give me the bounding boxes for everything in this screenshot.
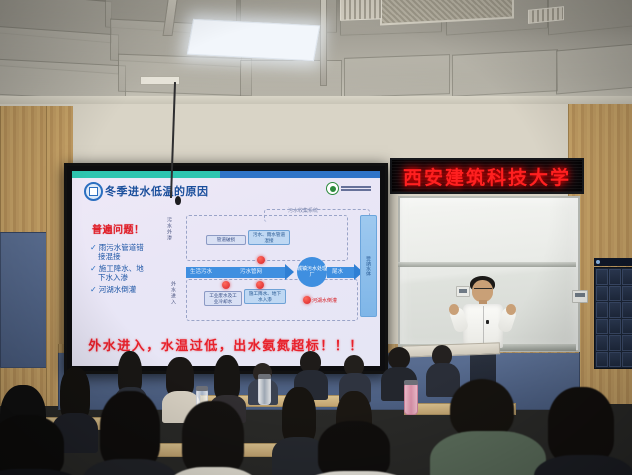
wall-display-cell <box>596 269 608 285</box>
wall-display-cell <box>622 302 632 318</box>
bullet-list: ✓ 雨污水管道错 接混接 ✓ 施工降水、地 下水入渗 ✓ 河湖水倒灌 <box>90 243 144 294</box>
check-icon: ✓ <box>90 264 97 273</box>
lecture-hall-screenshot: 西安建筑科技大学 冬季进水低温的原因 <box>0 0 632 475</box>
projection-screen: 冬季进水低温的原因 普遍问题！ ✓ 雨污水管道错 接混接 ✓ 施工降水、地 下水… <box>64 163 388 374</box>
ceiling-light-panel <box>187 19 320 61</box>
diagram-tag: 施工降水、地下水入渗 <box>244 289 286 304</box>
diagram-tag: 管道破损 <box>206 235 246 245</box>
water-bottle <box>404 383 418 415</box>
marker-dot <box>257 256 265 264</box>
hvac-vent-grille <box>340 0 382 21</box>
wall-display-header <box>594 258 632 266</box>
wall-display-cell <box>622 269 632 285</box>
check-icon: ✓ <box>90 243 97 252</box>
list-item: ✓ 河湖水倒灌 <box>90 285 144 294</box>
ceiling-rail-2 <box>320 0 327 86</box>
river-label: 受纳水体 <box>365 256 372 276</box>
wall-display-dot <box>596 260 600 264</box>
flow-arrow-icon <box>285 264 294 280</box>
diagram-red-tag: 河湖水倒灌 <box>312 297 337 304</box>
wall-display-cell <box>609 286 621 302</box>
organization-logo <box>326 182 371 195</box>
list-item: ✓ 雨污水管道错 接混接 <box>90 243 144 261</box>
logo-text <box>341 186 371 191</box>
flow-label: 生活污水 <box>190 267 212 278</box>
ceiling <box>0 0 632 108</box>
shirt-placket <box>483 306 484 346</box>
wall-display-cell <box>609 302 621 318</box>
receiving-water-body: 受纳水体 <box>360 215 377 317</box>
wall-display-cell <box>622 319 632 335</box>
problem-heading: 普遍问题！ <box>92 221 145 236</box>
wall-display-cell <box>609 269 621 285</box>
process-diagram: 污水收集系统 污水外渗 外水进入 管道破损 污水、雨水管道混接 工业废水及工业冷… <box>164 205 376 323</box>
marker-dot <box>256 281 264 289</box>
lapel-mic <box>486 320 489 324</box>
glasses <box>474 288 492 292</box>
marker-dot <box>303 296 311 304</box>
bullet-text: 雨污水管道错 <box>99 243 144 252</box>
bullet-text-cont: 接混接 <box>90 252 144 261</box>
marker-dot <box>222 281 230 289</box>
wall-display-cell <box>609 319 621 335</box>
wall-socket-panel[interactable] <box>572 290 588 303</box>
treatment-plant-node: 城镇污水处理厂 <box>297 257 327 287</box>
bullet-text: 河湖水倒灌 <box>99 285 137 294</box>
slide-title: 冬季进水低温的原因 <box>105 183 209 199</box>
slide-title-icon <box>84 182 103 201</box>
list-item: ✓ 施工降水、地 下水入渗 <box>90 264 144 282</box>
diagram-return-path <box>264 209 370 222</box>
flow-label: 尾水 <box>332 267 343 278</box>
diagram-label-bottom-left: 外水进入 <box>170 281 176 315</box>
diagram-tag: 工业废水及工业冷却水 <box>204 291 242 306</box>
wall-display-cell <box>596 319 608 335</box>
bullet-text: 施工降水、地 <box>99 264 144 273</box>
diagram-label-left: 污水外渗 <box>166 217 172 255</box>
cable-weight <box>175 196 181 205</box>
wall-display-cell <box>596 302 608 318</box>
whiteboard-divider <box>398 262 576 267</box>
diagram-tag: 污水、雨水管道混接 <box>248 230 290 245</box>
bullet-text-cont: 下水入渗 <box>90 273 144 282</box>
logo-emblem <box>326 182 339 195</box>
wall-display-cell <box>596 286 608 302</box>
wall-display-cell <box>622 286 632 302</box>
flow-label: 污水管网 <box>240 267 262 278</box>
check-icon: ✓ <box>90 285 97 294</box>
presenter-hand-left <box>449 304 459 315</box>
presentation-slide: 冬季进水低温的原因 普遍问题！ ✓ 雨污水管道错 接混接 ✓ 施工降水、地 下水… <box>72 171 380 366</box>
led-banner: 西安建筑科技大学 <box>390 158 584 194</box>
presenter-hand-right <box>506 304 516 315</box>
slide-topbar <box>72 171 380 178</box>
led-banner-text: 西安建筑科技大学 <box>403 163 571 190</box>
water-bottle <box>258 377 271 405</box>
audience-area <box>0 345 632 475</box>
